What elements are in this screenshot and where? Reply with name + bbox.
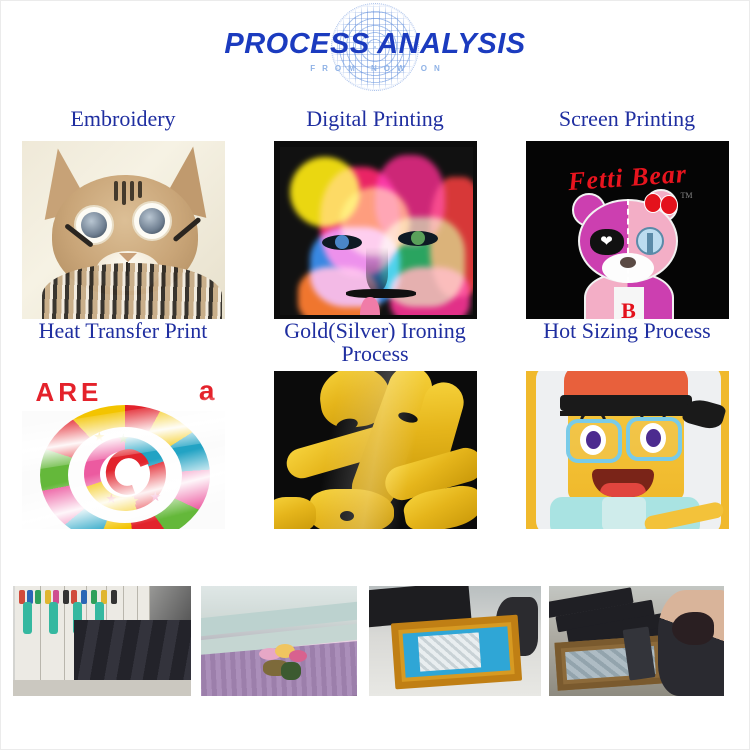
character-pupil-left bbox=[586, 431, 601, 449]
character-mouth bbox=[592, 469, 654, 497]
cat-stripe bbox=[122, 181, 126, 205]
factory-photo-strip bbox=[1, 586, 749, 696]
character-headband bbox=[560, 395, 692, 411]
digital-printing-line-photo bbox=[201, 586, 357, 696]
cat-chest-fur bbox=[42, 263, 222, 319]
character-headband-stripe bbox=[560, 411, 692, 416]
process-label-hot-sizing: Hot Sizing Process bbox=[543, 319, 710, 367]
process-cell-screen-printing: Screen Printing Fetti Bear TM ❤ bbox=[523, 107, 731, 319]
heat-artwork-text-1: ARE bbox=[36, 377, 103, 408]
header-inner: PROCESS ANALYSIS FROM NOW ON bbox=[225, 1, 525, 101]
process-row-1: Embroidery bbox=[19, 107, 731, 319]
process-row-2: Heat Transfer Print ARE a ★ ★ ★ ★ ★ bbox=[19, 319, 731, 529]
screen-printing-worker-photo bbox=[549, 586, 724, 696]
cat-stripe bbox=[138, 181, 142, 198]
page-header: PROCESS ANALYSIS FROM NOW ON bbox=[1, 1, 749, 101]
process-cell-embroidery: Embroidery bbox=[19, 107, 227, 319]
embroidered-cat-sample bbox=[22, 141, 225, 319]
bear-wordmark: Fetti Bear bbox=[526, 156, 729, 200]
page-title: PROCESS ANALYSIS bbox=[224, 30, 525, 59]
process-label-heat-transfer: Heat Transfer Print bbox=[39, 319, 208, 367]
process-cell-digital-printing: Digital Printing bbox=[271, 107, 479, 319]
digital-print-face-sample bbox=[274, 141, 477, 319]
process-cell-heat-transfer: Heat Transfer Print ARE a ★ ★ ★ ★ ★ bbox=[19, 319, 227, 529]
process-cell-gold-ironing: Gold(Silver) Ironing Process bbox=[271, 319, 479, 529]
character-tongue bbox=[600, 483, 646, 497]
portrait-iris-right bbox=[411, 231, 425, 245]
bear-eye-patch: ❤ bbox=[590, 229, 624, 255]
fabric-sheen bbox=[274, 371, 477, 529]
character-pupil-right bbox=[646, 429, 661, 447]
cat-pupil-right bbox=[139, 208, 165, 234]
trademark-icon: TM bbox=[681, 191, 693, 200]
photo-content bbox=[201, 586, 357, 696]
bear-bow-icon bbox=[644, 193, 680, 217]
bear-nose bbox=[620, 257, 636, 268]
process-label-gold-ironing: Gold(Silver) Ironing Process bbox=[284, 319, 465, 367]
screen-print-bear-sample: Fetti Bear TM ❤ B bbox=[526, 141, 729, 319]
character-collar bbox=[602, 497, 646, 529]
bear-center-dash bbox=[627, 199, 629, 283]
heart-icon: ❤ bbox=[600, 235, 613, 250]
portrait-lip bbox=[360, 297, 380, 315]
process-label-embroidery: Embroidery bbox=[70, 107, 175, 133]
process-analysis-page: PROCESS ANALYSIS FROM NOW ON Embroidery bbox=[0, 0, 750, 750]
cat-stripe bbox=[130, 181, 134, 201]
heat-transfer-sample: ARE a ★ ★ ★ ★ ★ bbox=[22, 371, 225, 529]
process-label-screen-printing: Screen Printing bbox=[559, 107, 695, 133]
portrait-nose bbox=[366, 247, 388, 291]
bear-eye-target bbox=[636, 227, 664, 255]
process-cell-hot-sizing: Hot Sizing Process bbox=[523, 319, 731, 529]
portrait-iris-left bbox=[335, 235, 349, 249]
hot-sizing-sample bbox=[526, 371, 729, 529]
page-subtitle: FROM NOW ON bbox=[303, 64, 447, 73]
photo-content bbox=[549, 586, 724, 696]
bear-belly-badge: B bbox=[614, 287, 644, 319]
gold-ironing-sample bbox=[274, 371, 477, 529]
process-label-digital-printing: Digital Printing bbox=[306, 107, 444, 133]
process-grid: Embroidery bbox=[1, 101, 749, 529]
cat-nose bbox=[119, 253, 137, 262]
screen-frame-photo bbox=[369, 586, 541, 696]
cat-pupil-left bbox=[81, 212, 107, 238]
portrait-mouth bbox=[346, 289, 416, 298]
embroidery-machine-line-photo bbox=[13, 586, 191, 696]
print-area bbox=[280, 147, 473, 315]
cat-stripe bbox=[114, 181, 118, 201]
photo-content bbox=[369, 586, 541, 696]
photo-content bbox=[13, 586, 191, 696]
